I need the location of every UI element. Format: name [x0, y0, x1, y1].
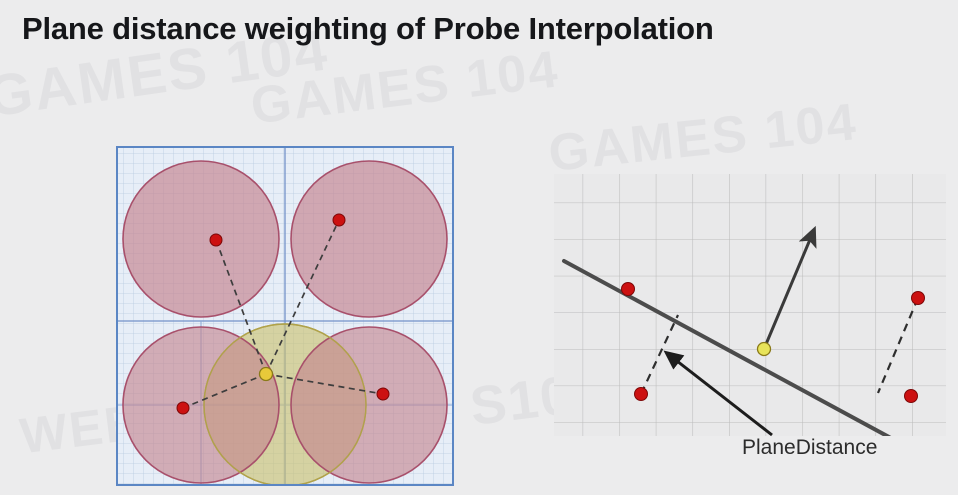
probe-point-lower-left[interactable]	[635, 388, 648, 401]
plane-grid-lines	[554, 174, 946, 436]
probe-point-top-right[interactable]	[333, 214, 345, 226]
probe-point-bottom-right[interactable]	[377, 388, 389, 400]
probe-point-lower-right[interactable]	[905, 390, 918, 403]
slide-title: Plane distance weighting of Probe Interp…	[22, 8, 714, 50]
probe-point-top-left[interactable]	[210, 234, 222, 246]
plane-distance-label: PlaneDistance	[742, 436, 877, 459]
sample-point-yellow[interactable]	[260, 368, 273, 381]
probe-circle-top-right	[291, 161, 447, 317]
probe-point-upper-right[interactable]	[912, 292, 925, 305]
probe-point-on-plane[interactable]	[622, 283, 635, 296]
probe-grid-diagram	[113, 143, 457, 491]
plane-distance-diagram: PlaneDistance	[546, 166, 952, 486]
probe-point-bottom-left[interactable]	[177, 402, 189, 414]
probe-circle-bottom-right	[291, 327, 447, 483]
probe-circle-bottom-left	[123, 327, 279, 483]
background-watermark: GAMES 104	[247, 39, 562, 136]
probe-circle-top-left	[123, 161, 279, 317]
slide-canvas: GAMES 104 GAMES 104 GAMES 104 S104 WEB P…	[0, 0, 958, 495]
sample-point-on-plane[interactable]	[758, 343, 771, 356]
